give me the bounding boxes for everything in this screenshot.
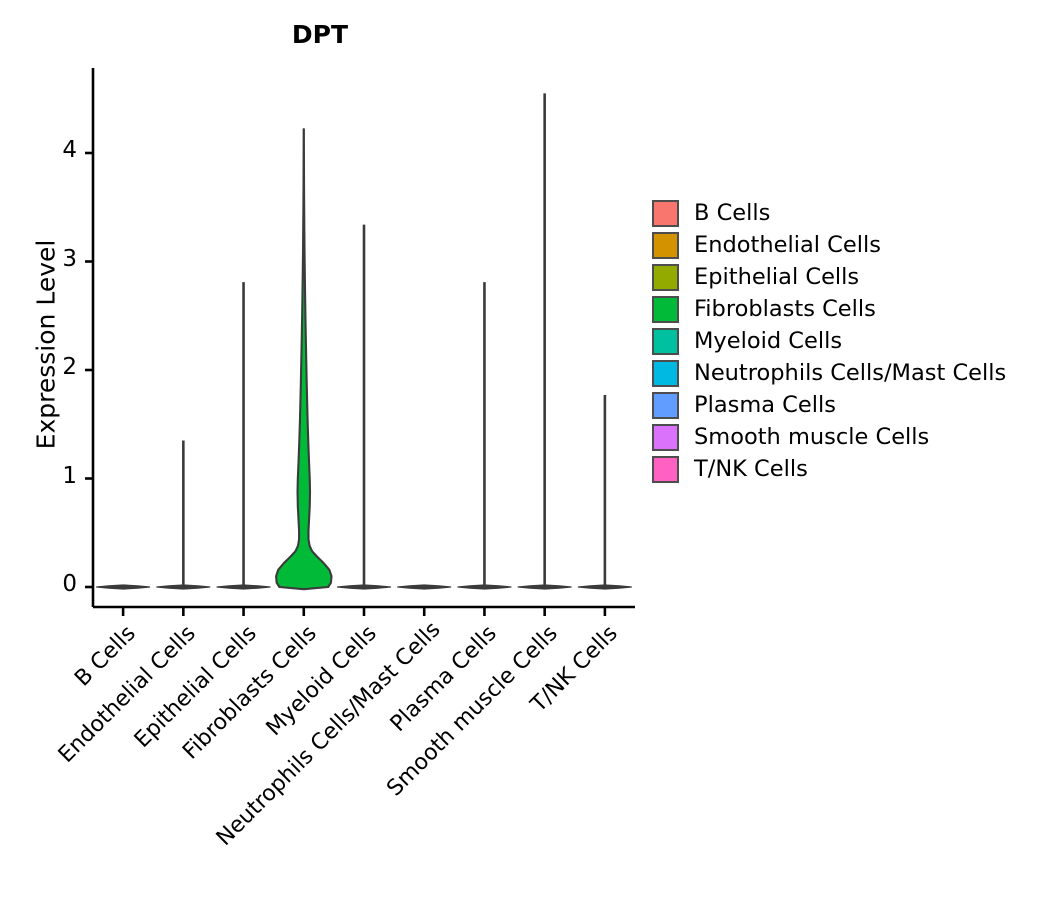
- violin-b-cells[interactable]: [97, 585, 150, 589]
- legend-item[interactable]: Endothelial Cells: [652, 229, 1006, 261]
- legend-item[interactable]: Myeloid Cells: [652, 325, 1006, 357]
- violin-neutrophils-cells-mast-cells[interactable]: [398, 585, 451, 589]
- legend-swatch-fibroblasts-cells: [652, 296, 679, 323]
- legend-label: Neutrophils Cells/Mast Cells: [694, 362, 1006, 385]
- legend-label: B Cells: [694, 202, 770, 225]
- violin-plasma-cells[interactable]: [458, 282, 511, 589]
- legend-swatch-smooth-muscle-cells: [652, 424, 679, 451]
- legend-item[interactable]: Plasma Cells: [652, 389, 1006, 421]
- legend-swatch-plasma-cells: [652, 392, 679, 419]
- legend-swatch-neutrophils-mast-cells: [652, 360, 679, 387]
- violin-t-nk-cells[interactable]: [578, 395, 631, 589]
- legend-item[interactable]: Epithelial Cells: [652, 261, 1006, 293]
- legend-label: Myeloid Cells: [694, 330, 842, 353]
- violin-smooth-muscle-cells[interactable]: [518, 93, 571, 589]
- violin-fibroblasts-cells[interactable]: [276, 129, 331, 589]
- legend-swatch-b-cells: [652, 200, 679, 227]
- y-tick-label: 4: [37, 137, 77, 163]
- legend-label: Epithelial Cells: [694, 266, 859, 289]
- legend-swatch-tnk-cells: [652, 456, 679, 483]
- legend-label: Fibroblasts Cells: [694, 298, 876, 321]
- legend-item[interactable]: Neutrophils Cells/Mast Cells: [652, 357, 1006, 389]
- legend-item[interactable]: Fibroblasts Cells: [652, 293, 1006, 325]
- legend-swatch-endothelial-cells: [652, 232, 679, 259]
- legend-swatch-myeloid-cells: [652, 328, 679, 355]
- legend-swatch-epithelial-cells: [652, 264, 679, 291]
- y-tick-label: 2: [37, 354, 77, 380]
- violin-plot-figure: DPT Expression Level B Cells Endothelial…: [0, 0, 1057, 900]
- y-tick-label: 0: [37, 571, 77, 597]
- legend-label: Smooth muscle Cells: [694, 426, 929, 449]
- legend-item[interactable]: B Cells: [652, 197, 1006, 229]
- violin-epithelial-cells[interactable]: [217, 282, 270, 589]
- y-tick-label: 1: [37, 463, 77, 489]
- violin-myeloid-cells[interactable]: [338, 225, 391, 589]
- legend-label: Plasma Cells: [694, 394, 836, 417]
- y-tick-label: 3: [37, 246, 77, 272]
- legend-label: T/NK Cells: [694, 458, 808, 481]
- violin-endothelial-cells[interactable]: [157, 441, 210, 589]
- legend-item[interactable]: T/NK Cells: [652, 453, 1006, 485]
- legend-label: Endothelial Cells: [694, 234, 881, 257]
- legend: B Cells Endothelial Cells Epithelial Cel…: [652, 197, 1006, 485]
- legend-item[interactable]: Smooth muscle Cells: [652, 421, 1006, 453]
